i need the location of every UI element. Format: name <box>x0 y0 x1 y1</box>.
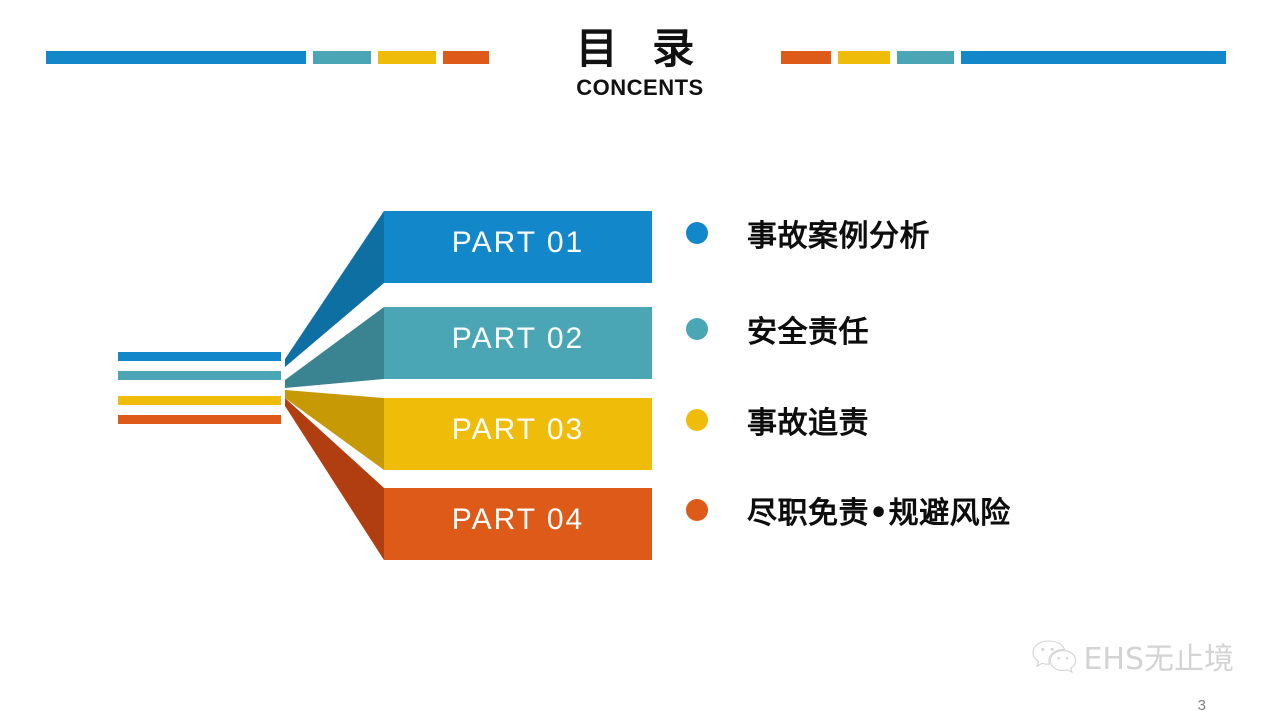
tab-teal <box>118 371 281 380</box>
part-02-title: 安全责任 <box>747 307 869 351</box>
part-02-bullet-dot-icon <box>686 318 708 340</box>
part-01-list-item[interactable]: 事故案例分析 <box>686 211 930 255</box>
tab-blue <box>118 352 281 361</box>
part-03-bullet-dot-icon <box>686 409 708 431</box>
part-02-label: PART 02 <box>384 322 652 356</box>
contents-list: 事故案例分析安全责任事故追责尽职免责•规避风险 <box>686 195 1206 585</box>
slide-canvas: 目 录 CONCENTS PART 01PART 02PART 03PART 0… <box>0 0 1280 720</box>
part-03-list-item[interactable]: 事故追责 <box>686 398 869 442</box>
part-01-title: 事故案例分析 <box>747 211 930 255</box>
part-01-label: PART 01 <box>384 226 652 260</box>
watermark: EHS无止境 <box>1031 634 1234 678</box>
watermark-text: EHS无止境 <box>1083 634 1234 678</box>
part-04-label: PART 04 <box>384 503 652 537</box>
part-04-title: 尽职免责•规避风险 <box>747 488 1011 532</box>
page-number: 3 <box>1198 697 1206 714</box>
wechat-icon <box>1031 637 1077 675</box>
tab-yellow <box>118 396 281 405</box>
part-01-bullet-dot-icon <box>686 222 708 244</box>
part-04-bullet-dot-icon <box>686 499 708 521</box>
part-03-label: PART 03 <box>384 413 652 447</box>
part-04-list-item[interactable]: 尽职免责•规避风险 <box>686 488 1011 532</box>
part-03-title: 事故追责 <box>747 398 869 442</box>
part-02-list-item[interactable]: 安全责任 <box>686 307 869 351</box>
tab-orange <box>118 415 281 424</box>
